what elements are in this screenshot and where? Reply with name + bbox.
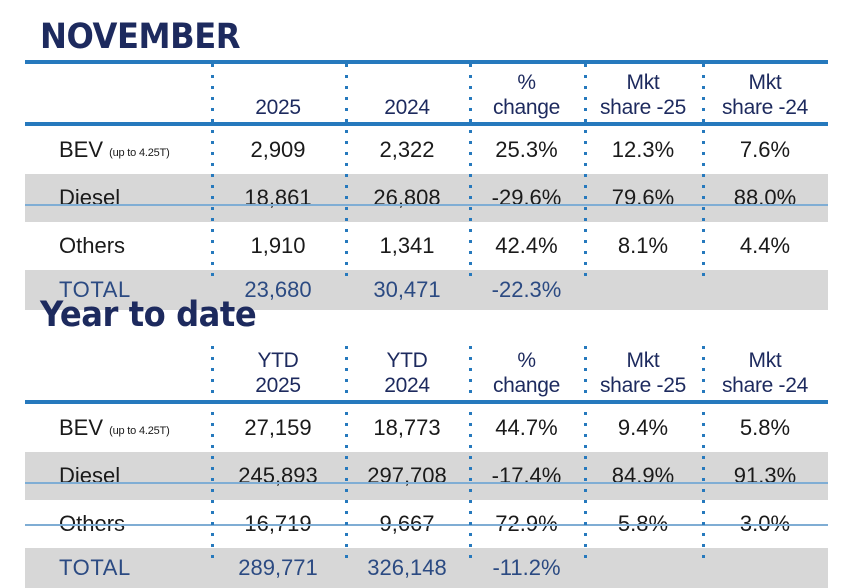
- header-cell-current-year: 2025: [211, 95, 345, 120]
- header-cell-previous-year: 2024: [345, 95, 469, 120]
- column-divider: [584, 64, 587, 282]
- table-row: BEV (up to 4.25T) 2,909 2,322 25.3% 12.3…: [25, 126, 828, 174]
- table-total-rule-top: [25, 204, 828, 206]
- page-root: NOVEMBER 2025 2024 % change Mkt share -2…: [0, 0, 846, 573]
- header-line2: 2025: [211, 373, 345, 398]
- table-row: Diesel 18,861 26,808 -29.6% 79.6% 88.0%: [25, 174, 828, 222]
- cell-market-share-25: 79.6%: [584, 185, 702, 211]
- cell-current-year: 245,893: [211, 463, 345, 489]
- header-cell-market-share-24: Mkt share -24: [702, 70, 828, 120]
- table-header-row: YTD 2025 YTD 2024 % change Mkt share -25…: [25, 342, 828, 400]
- table-total-row: TOTAL 289,771 326,148 -11.2%: [25, 548, 828, 588]
- header-cell-current-year: YTD 2025: [211, 348, 345, 398]
- header-line1: Mkt: [584, 348, 702, 373]
- cell-percent-change: 25.3%: [469, 137, 584, 163]
- row-label-text: TOTAL: [59, 555, 131, 580]
- header-cell-market-share-25: Mkt share -25: [584, 70, 702, 120]
- header-line1: Mkt: [584, 70, 702, 95]
- table-row: BEV (up to 4.25T) 27,159 18,773 44.7% 9.…: [25, 404, 828, 452]
- cell-current-year: 18,861: [211, 185, 345, 211]
- cell-percent-change: -22.3%: [469, 277, 584, 303]
- row-label: BEV (up to 4.25T): [25, 415, 211, 441]
- column-divider: [345, 346, 348, 560]
- header-cell-percent-change: % change: [469, 348, 584, 398]
- column-divider: [702, 346, 705, 560]
- header-cell-percent-change: % change: [469, 70, 584, 120]
- row-label: Diesel: [25, 463, 211, 489]
- cell-percent-change: -29.6%: [469, 185, 584, 211]
- header-line1: %: [469, 70, 584, 95]
- header-line2: share -25: [584, 373, 702, 398]
- page-title-november: NOVEMBER: [40, 18, 240, 56]
- row-label: Diesel: [25, 185, 211, 211]
- row-label-text: Others: [59, 233, 125, 258]
- cell-market-share-25: 12.3%: [584, 137, 702, 163]
- column-divider: [469, 64, 472, 282]
- cell-previous-year: 26,808: [345, 185, 469, 211]
- cell-current-year: 1,910: [211, 233, 345, 259]
- row-label-sub: (up to 4.25T): [109, 425, 169, 437]
- table-year-to-date: YTD 2025 YTD 2024 % change Mkt share -25…: [25, 342, 828, 588]
- column-divider: [702, 64, 705, 282]
- cell-current-year: 289,771: [211, 555, 345, 581]
- row-label: TOTAL: [25, 555, 211, 581]
- cell-market-share-24: 91.3%: [702, 463, 828, 489]
- cell-percent-change: -17.4%: [469, 463, 584, 489]
- row-label-sub: (up to 4.25T): [109, 147, 169, 159]
- header-line2: change: [469, 373, 584, 398]
- column-divider: [345, 64, 348, 282]
- table-total-rule-top: [25, 482, 828, 484]
- header-line2: change: [469, 95, 584, 120]
- header-cell-market-share-24: Mkt share -24: [702, 348, 828, 398]
- row-label-text: BEV: [59, 415, 103, 440]
- header-line1: Mkt: [702, 70, 828, 95]
- header-line2: share -25: [584, 95, 702, 120]
- cell-previous-year: 1,341: [345, 233, 469, 259]
- column-divider: [211, 346, 214, 560]
- header-line2: 2025: [211, 95, 345, 120]
- header-line1: YTD: [211, 348, 345, 373]
- cell-percent-change: 42.4%: [469, 233, 584, 259]
- table-november: 2025 2024 % change Mkt share -25 Mkt sha…: [25, 60, 828, 310]
- header-cell-market-share-25: Mkt share -25: [584, 348, 702, 398]
- column-divider: [211, 64, 214, 282]
- page-title-year-to-date: Year to date: [40, 296, 256, 334]
- header-line2: share -24: [702, 373, 828, 398]
- table-body: BEV (up to 4.25T) 27,159 18,773 44.7% 9.…: [25, 404, 828, 588]
- table-body: BEV (up to 4.25T) 2,909 2,322 25.3% 12.3…: [25, 126, 828, 310]
- cell-market-share-25: 8.1%: [584, 233, 702, 259]
- cell-market-share-24: 7.6%: [702, 137, 828, 163]
- table-header-row: 2025 2024 % change Mkt share -25 Mkt sha…: [25, 64, 828, 122]
- header-line2: 2024: [345, 95, 469, 120]
- header-line1: %: [469, 348, 584, 373]
- row-label-text: Diesel: [59, 463, 120, 488]
- column-divider: [584, 346, 587, 560]
- cell-market-share-24: 5.8%: [702, 415, 828, 441]
- header-line1: YTD: [345, 348, 469, 373]
- header-line2: share -24: [702, 95, 828, 120]
- table-row: Others 1,910 1,341 42.4% 8.1% 4.4%: [25, 222, 828, 270]
- column-divider: [469, 346, 472, 560]
- cell-market-share-24: 4.4%: [702, 233, 828, 259]
- cell-previous-year: 297,708: [345, 463, 469, 489]
- row-label: BEV (up to 4.25T): [25, 137, 211, 163]
- header-line2: 2024: [345, 373, 469, 398]
- cell-percent-change: 44.7%: [469, 415, 584, 441]
- header-line1: Mkt: [702, 348, 828, 373]
- cell-previous-year: 326,148: [345, 555, 469, 581]
- row-label: Others: [25, 233, 211, 259]
- header-cell-previous-year: YTD 2024: [345, 348, 469, 398]
- row-label-text: BEV: [59, 137, 103, 162]
- table-row: Diesel 245,893 297,708 -17.4% 84.9% 91.3…: [25, 452, 828, 500]
- cell-previous-year: 30,471: [345, 277, 469, 303]
- row-label-text: Diesel: [59, 185, 120, 210]
- cell-previous-year: 18,773: [345, 415, 469, 441]
- cell-current-year: 2,909: [211, 137, 345, 163]
- cell-market-share-25: 84.9%: [584, 463, 702, 489]
- cell-percent-change: -11.2%: [469, 555, 584, 581]
- table-total-rule-bottom: [25, 524, 828, 526]
- cell-previous-year: 2,322: [345, 137, 469, 163]
- cell-market-share-25: 9.4%: [584, 415, 702, 441]
- cell-market-share-24: 88.0%: [702, 185, 828, 211]
- cell-current-year: 27,159: [211, 415, 345, 441]
